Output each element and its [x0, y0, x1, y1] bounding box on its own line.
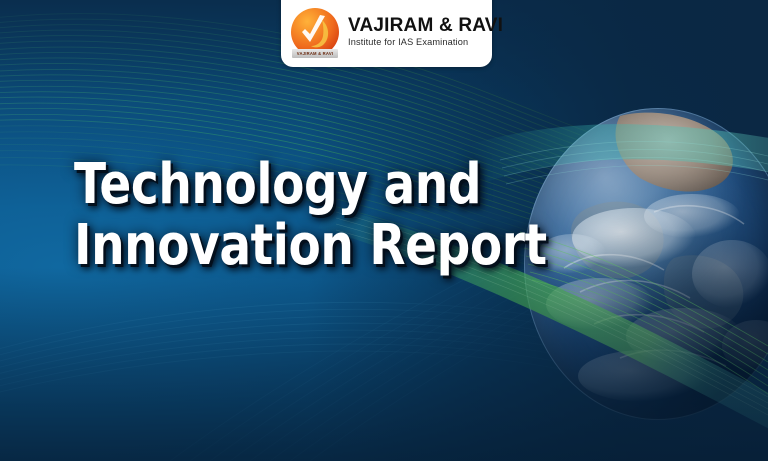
page-title: Technology and Innovation Report	[74, 158, 544, 274]
brand-name: VAJIRAM & RAVI	[348, 16, 503, 36]
vajiram-ravi-checkmark-logo: VAJIRAM & RAVI	[289, 7, 341, 59]
page-title-line-1: Technology and	[74, 158, 469, 213]
brand-logo-panel[interactable]: VAJIRAM & RAVI VAJIRAM & RAVI Institute …	[281, 0, 492, 67]
brand-tagline: Institute for IAS Examination	[348, 37, 503, 49]
logo-ribbon-text: VAJIRAM & RAVI	[292, 49, 338, 58]
technology-innovation-report-banner: VAJIRAM & RAVI VAJIRAM & RAVI Institute …	[0, 0, 768, 461]
page-title-line-2: Innovation Report	[74, 219, 469, 274]
logo-ribbon-banner: VAJIRAM & RAVI	[292, 49, 338, 58]
brand-text-block: VAJIRAM & RAVI Institute for IAS Examina…	[348, 16, 503, 50]
